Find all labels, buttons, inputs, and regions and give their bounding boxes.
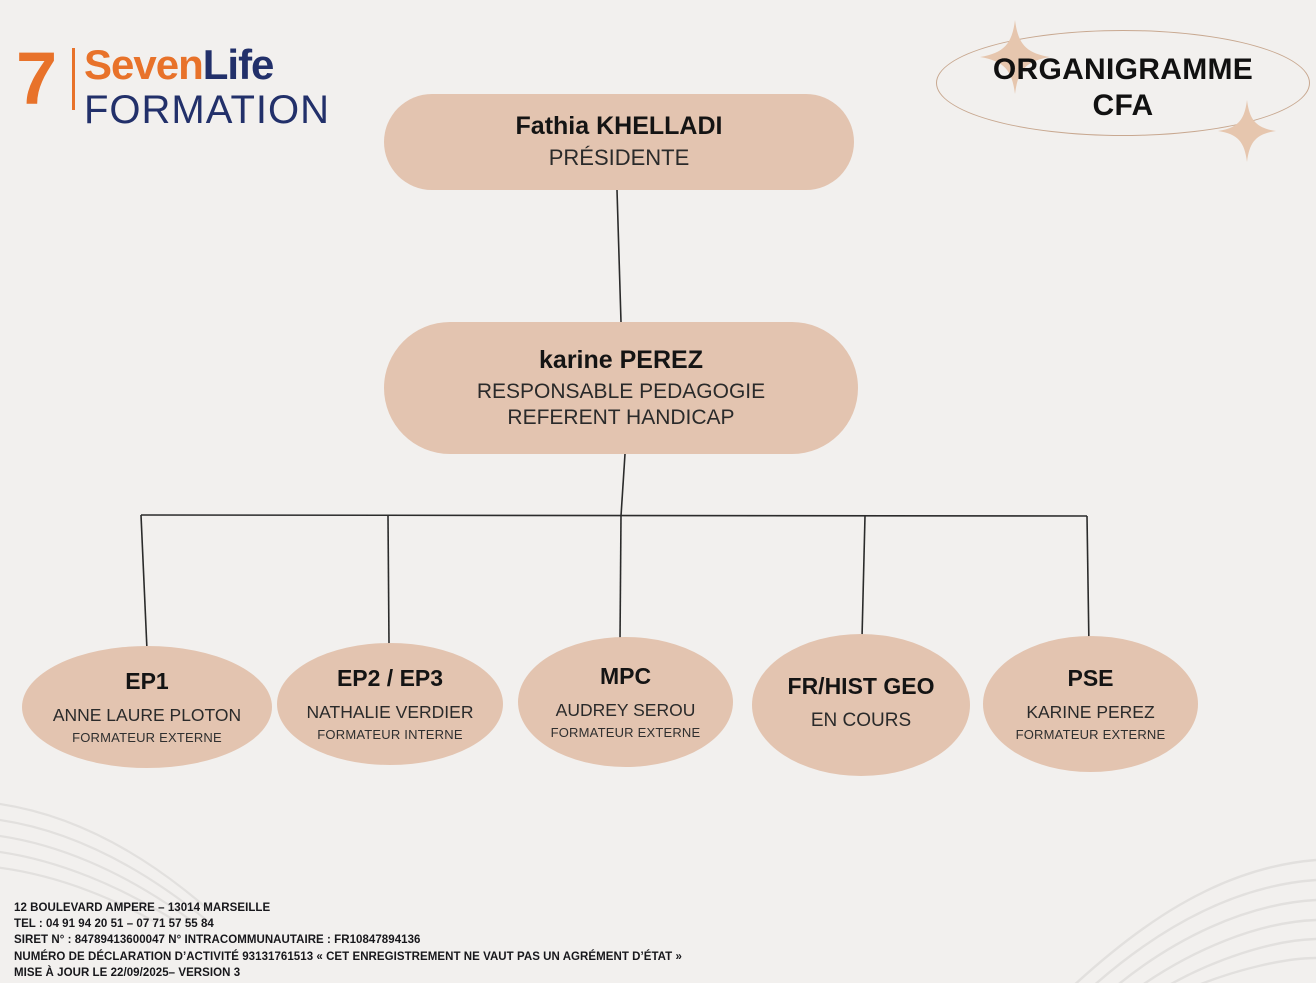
- org-node-ep2-ep3[interactable]: EP2 / EP3 NATHALIE VERDIER FORMATEUR INT…: [277, 643, 503, 765]
- org-node-responsable-name: karine PEREZ: [539, 346, 703, 376]
- org-node-mpc-code: MPC: [600, 663, 651, 690]
- connector-drop-ep1: [141, 515, 147, 650]
- org-node-mpc[interactable]: MPC AUDREY SEROU FORMATEUR EXTERNE: [518, 637, 733, 767]
- connector-drop-pse: [1087, 516, 1089, 648]
- connector-drop-ep2ep3: [388, 516, 389, 645]
- connector-horizontal-bus: [141, 515, 1087, 516]
- logo-digit-seven: 7: [16, 42, 55, 116]
- org-node-president-name: Fathia KHELLADI: [516, 112, 723, 142]
- org-node-ep1-person: ANNE LAURE PLOTON: [53, 705, 241, 726]
- connector-drop-frhistgeo: [862, 516, 865, 638]
- logo-divider-bar: [72, 48, 75, 110]
- connector-president-to-responsable: [617, 190, 621, 322]
- logo-word-life: Life: [203, 41, 274, 88]
- logo-wordmark-line1: SevenLife: [84, 42, 273, 88]
- org-node-responsable-role-line2: REFERENT HANDICAP: [507, 405, 734, 431]
- org-node-ep2-ep3-status: FORMATEUR INTERNE: [317, 727, 462, 743]
- org-node-ep1-status: FORMATEUR EXTERNE: [72, 730, 222, 746]
- footer-address: 12 BOULEVARD AMPERE – 13014 MARSEILLE: [14, 900, 682, 916]
- org-node-fr-hist-geo-person: EN COURS: [811, 709, 911, 732]
- org-node-fr-hist-geo-code: FR/HIST GEO: [788, 673, 935, 700]
- connector-drop-mpc: [620, 516, 621, 641]
- org-node-pse-code: PSE: [1067, 665, 1113, 692]
- decorative-waves-bottom-right: [986, 808, 1316, 983]
- footer-update: MISE À JOUR LE 22/09/2025– VERSION 3: [14, 965, 682, 981]
- footer-siret: SIRET N° : 84789413600047 N° INTRACOMMUN…: [14, 932, 682, 948]
- org-node-mpc-status: FORMATEUR EXTERNE: [551, 725, 701, 741]
- footer-phone: TEL : 04 91 94 20 51 – 07 71 57 55 84: [14, 916, 682, 932]
- org-node-pse-status: FORMATEUR EXTERNE: [1016, 727, 1166, 743]
- org-node-ep1[interactable]: EP1 ANNE LAURE PLOTON FORMATEUR EXTERNE: [22, 646, 272, 768]
- org-node-ep1-code: EP1: [125, 668, 168, 695]
- org-node-pse[interactable]: PSE KARINE PEREZ FORMATEUR EXTERNE: [983, 636, 1198, 772]
- org-node-responsable[interactable]: karine PEREZ RESPONSABLE PEDAGOGIE REFER…: [384, 322, 858, 454]
- footer-legal-block: 12 BOULEVARD AMPERE – 13014 MARSEILLE TE…: [14, 900, 682, 981]
- logo-word-seven: Seven: [84, 41, 203, 88]
- page-title-line1: ORGANIGRAMME: [936, 52, 1310, 88]
- page-title-line2: CFA: [936, 88, 1310, 124]
- org-node-ep2-ep3-person: NATHALIE VERDIER: [307, 702, 474, 723]
- logo-wordmark-line2: FORMATION: [84, 88, 330, 132]
- footer-declaration: NUMÉRO DE DÉCLARATION D’ACTIVITÉ 9313176…: [14, 949, 682, 965]
- organigramme-canvas: 7 SevenLife FORMATION ORGANIGRAMME CFA: [0, 0, 1316, 983]
- org-node-ep2-ep3-code: EP2 / EP3: [337, 665, 443, 692]
- org-node-president[interactable]: Fathia KHELLADI PRÉSIDENTE: [384, 94, 854, 190]
- org-node-responsable-role-line1: RESPONSABLE PEDAGOGIE: [477, 379, 765, 405]
- org-node-mpc-person: AUDREY SEROU: [556, 700, 696, 721]
- brand-logo: 7 SevenLife FORMATION: [16, 40, 316, 138]
- org-node-fr-hist-geo[interactable]: FR/HIST GEO EN COURS: [752, 634, 970, 776]
- title-badge: ORGANIGRAMME CFA: [936, 14, 1316, 164]
- org-node-president-role: PRÉSIDENTE: [549, 145, 690, 172]
- org-node-pse-person: KARINE PEREZ: [1026, 702, 1154, 723]
- connector-responsable-to-bus: [621, 454, 625, 516]
- page-title: ORGANIGRAMME CFA: [936, 52, 1310, 124]
